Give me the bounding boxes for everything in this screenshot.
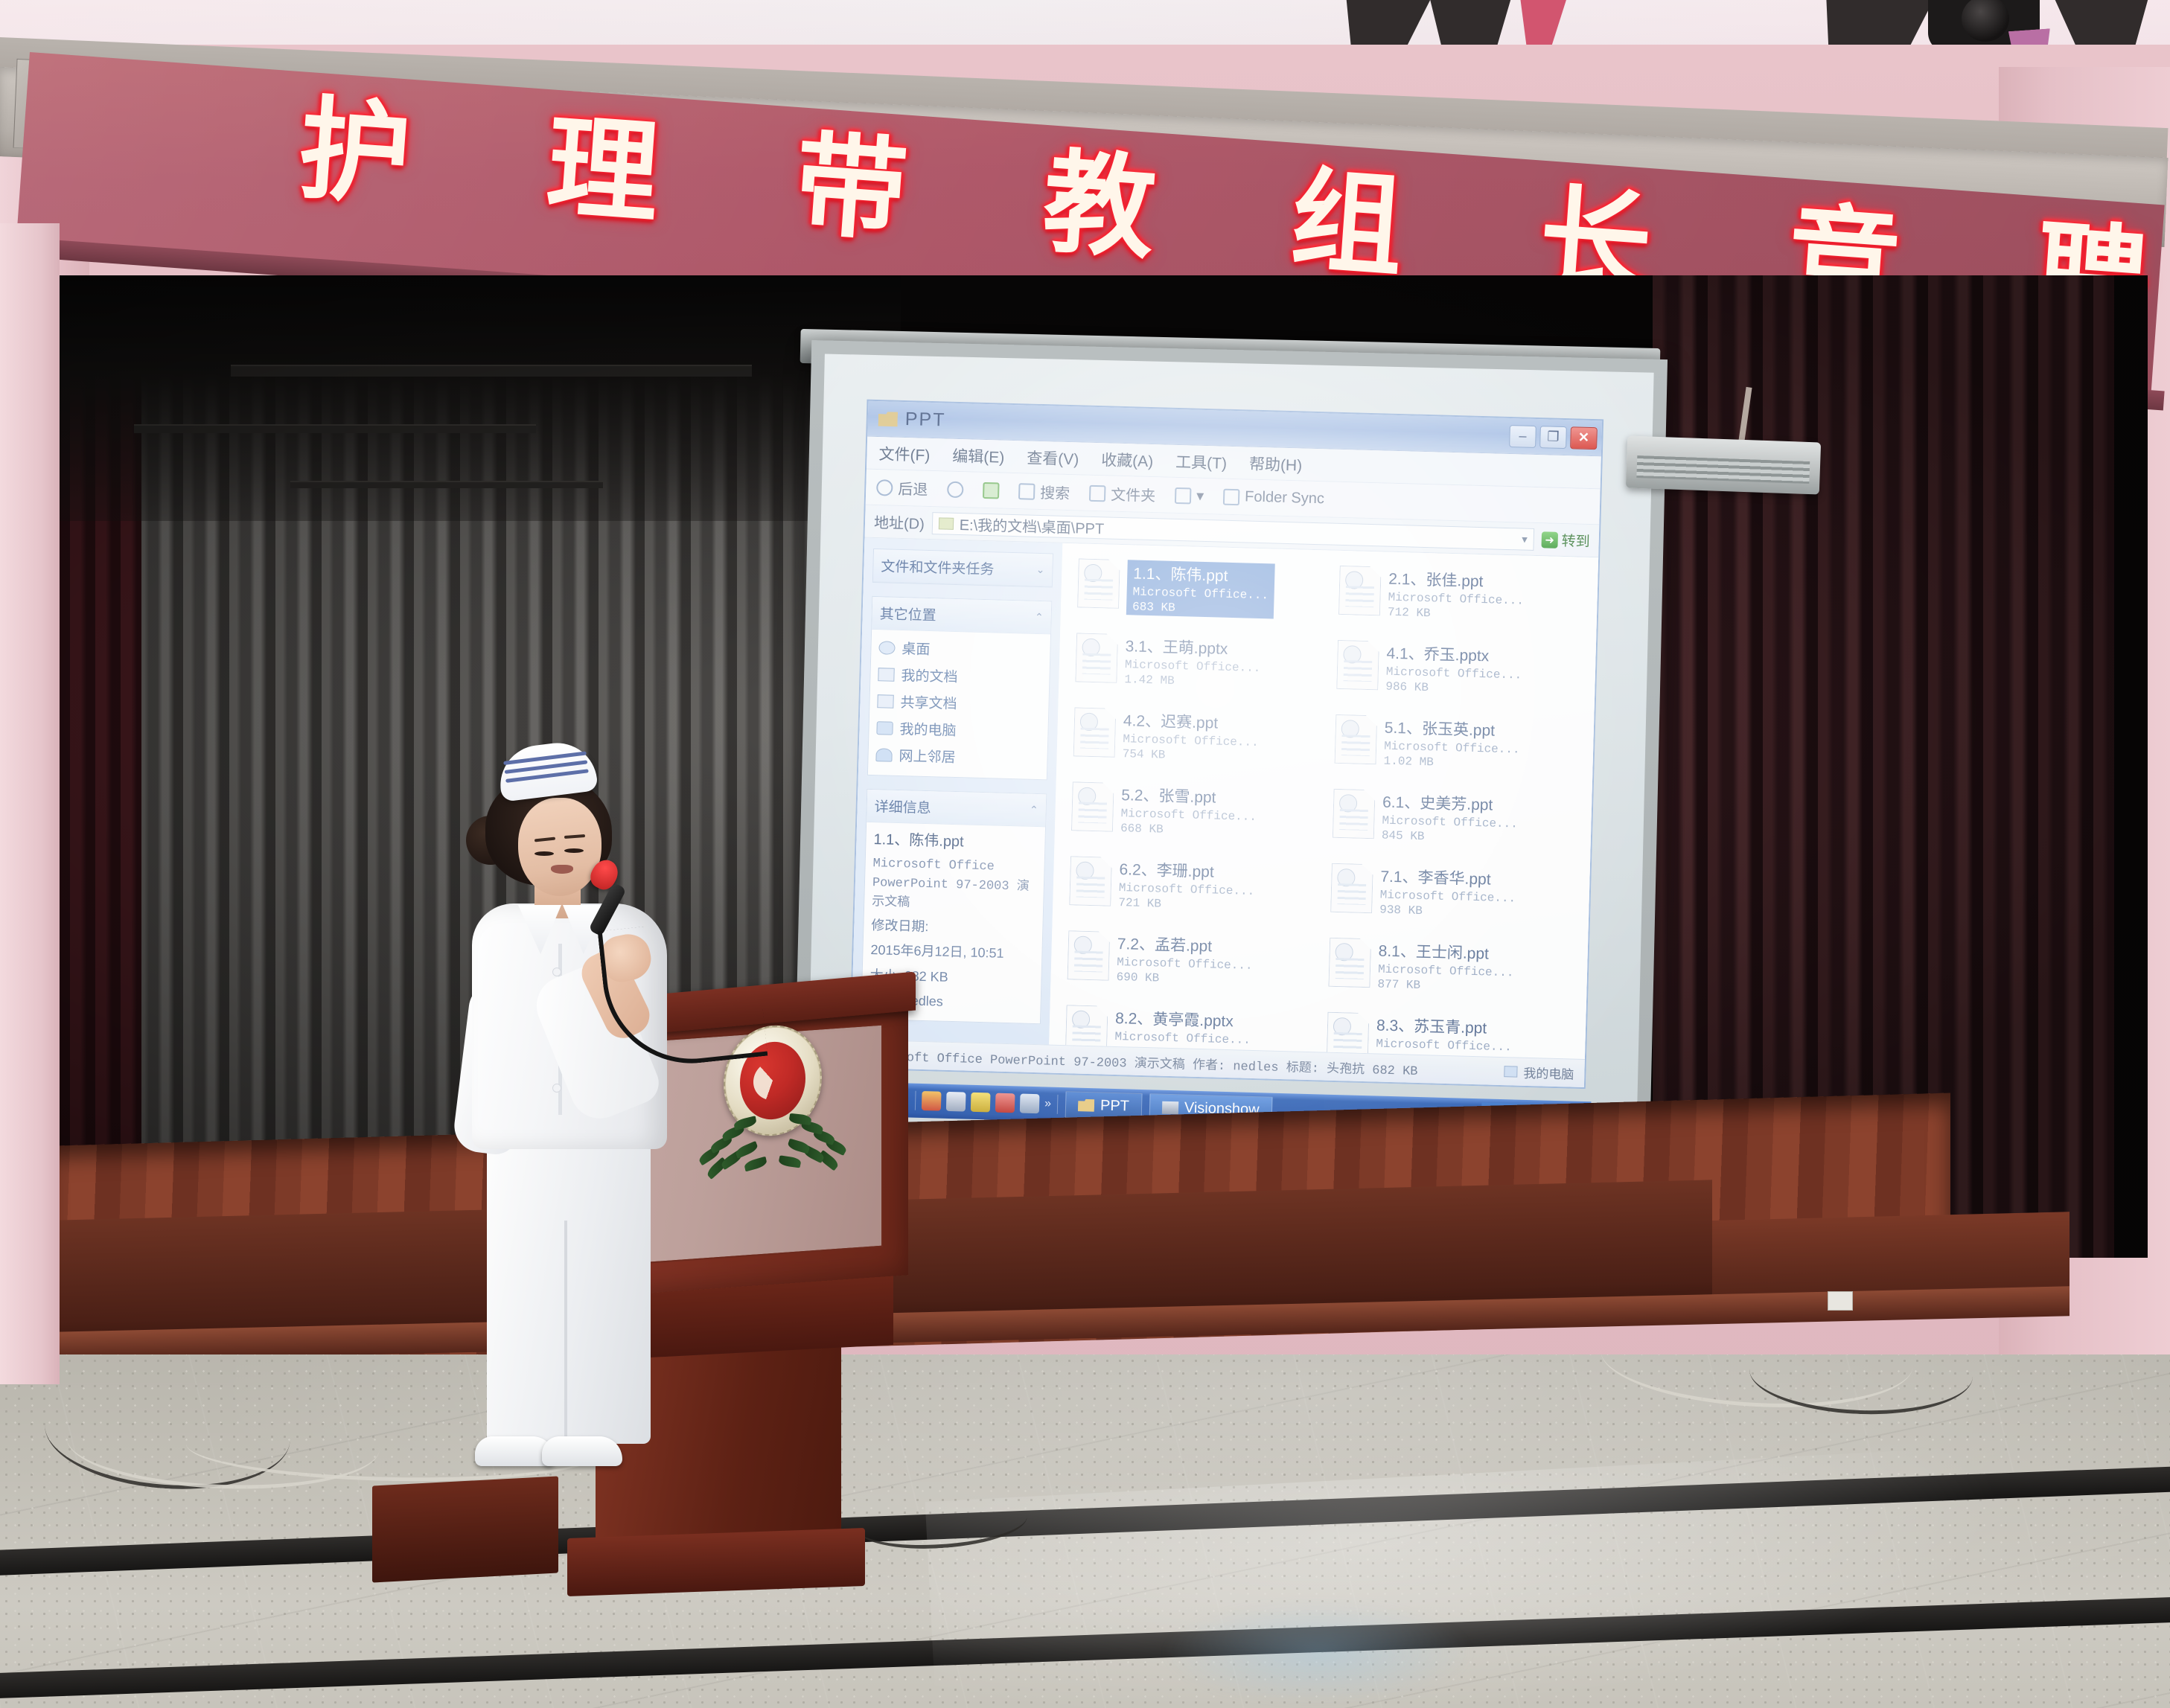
file-type: Microsoft Office... <box>1380 889 1516 906</box>
back-label: 后退 <box>898 477 928 499</box>
file-name: 2.1、张佳.ppt <box>1388 567 1525 593</box>
file-size: 877 KB <box>1377 977 1513 994</box>
folders-icon <box>1089 484 1106 502</box>
file-tile[interactable]: 2.1、张佳.pptMicrosoft Office...712 KB <box>1335 563 1590 639</box>
menu-item-tools[interactable]: 工具(T) <box>1175 450 1228 473</box>
file-meta: 1.1、陈伟.pptMicrosoft Office...683 KB <box>1126 560 1275 618</box>
powerpoint-file-icon <box>1068 930 1111 980</box>
file-type: Microsoft Office... <box>1119 881 1255 898</box>
folder-sync-button[interactable]: Folder Sync <box>1223 488 1324 508</box>
media-icon[interactable] <box>946 1092 966 1112</box>
go-label: 转到 <box>1561 530 1590 551</box>
window-body: 文件和文件夹任务 ⌄ 其它位置 ⌃ <box>851 538 1598 1059</box>
search-button[interactable]: 搜索 <box>1018 480 1070 503</box>
powerpoint-file-icon <box>1336 640 1379 690</box>
file-type: Microsoft Office... <box>1384 740 1520 757</box>
menu-item-edit[interactable]: 编辑(E) <box>952 444 1005 467</box>
file-thumb-lines <box>1074 950 1103 972</box>
powerpoint-file-icon <box>1071 781 1114 831</box>
folder-icon <box>939 517 954 530</box>
file-thumb-lines <box>1333 1032 1362 1054</box>
file-type: Microsoft Office... <box>1378 962 1514 979</box>
folder-icon <box>878 412 899 427</box>
file-size: 845 KB <box>1382 829 1518 846</box>
blouse-button <box>552 967 561 976</box>
shared-folder-icon <box>877 694 893 709</box>
go-button[interactable]: ➜ 转到 <box>1541 529 1590 551</box>
search-label: 搜索 <box>1040 481 1070 503</box>
place-label: 网上邻居 <box>899 745 956 767</box>
file-thumb-lines <box>1344 660 1373 682</box>
address-label: 地址(D) <box>874 511 925 534</box>
file-tile[interactable]: 4.1、乔玉.pptxMicrosoft Office...986 KB <box>1333 637 1589 714</box>
views-button[interactable]: ▾ <box>1175 486 1204 505</box>
details-panel-header[interactable]: 详细信息 ⌃ <box>867 790 1046 827</box>
chevron-down-icon[interactable]: ▾ <box>1522 532 1528 546</box>
file-meta: 6.2、李珊.pptMicrosoft Office...721 KB <box>1118 857 1255 913</box>
file-type: Microsoft Office... <box>1382 814 1518 831</box>
place-label: 桌面 <box>901 638 931 659</box>
file-type: Microsoft Office... <box>1123 732 1259 749</box>
file-size: 712 KB <box>1388 606 1524 623</box>
back-button[interactable]: 后退 <box>876 476 928 499</box>
file-thumb-lines <box>1345 586 1374 607</box>
file-tile[interactable]: 6.1、史美芳.pptMicrosoft Office...845 KB <box>1329 786 1584 863</box>
explorer-sidebar: 文件和文件夹任务 ⌄ 其它位置 ⌃ <box>851 538 1062 1045</box>
file-name: 8.2、黄亭霞.pptx <box>1115 1006 1251 1032</box>
powerpoint-file-icon <box>1075 633 1118 682</box>
app-icon <box>1162 1101 1178 1114</box>
tasks-panel-title: 文件和文件夹任务 <box>881 555 995 578</box>
desktop-icon <box>878 641 895 655</box>
place-item-shared-documents[interactable]: 共享文档 <box>877 691 1041 715</box>
wall-socket <box>1828 1291 1853 1311</box>
details-panel-title: 详细信息 <box>874 796 931 817</box>
eyebrow-left <box>534 837 555 842</box>
file-type: Microsoft Office... <box>1117 956 1253 973</box>
projection-surface: PPT – ❐ ✕ 文件(F) 编辑(E) 查看(V) 收藏(A) 工具(T) … <box>807 354 1653 1145</box>
file-thumb-lines <box>1337 883 1366 905</box>
details-modified-value: 2015年6月12日, 10:51 <box>870 941 1035 963</box>
restore-button[interactable]: ❐ <box>1539 426 1567 449</box>
file-name: 8.1、王士闲.ppt <box>1378 939 1514 965</box>
file-type: Microsoft Office... <box>1386 665 1522 682</box>
mouth <box>551 865 573 874</box>
browser-icon[interactable] <box>922 1091 942 1111</box>
auditorium-scene: 护 理 带 教 组 长 竞 聘 会 PPT – ❐ ✕ <box>0 0 2170 1708</box>
file-type: Microsoft Office... <box>1132 585 1269 602</box>
file-tile[interactable]: 8.1、王士闲.pptMicrosoft Office...877 KB <box>1325 935 1580 1011</box>
file-type: Microsoft Office... <box>1388 591 1524 608</box>
file-meta: 4.2、迟赛.pptMicrosoft Office...754 KB <box>1123 709 1260 764</box>
file-name: 5.2、张雪.ppt <box>1121 783 1257 809</box>
file-name: 6.1、史美芳.ppt <box>1382 790 1519 816</box>
place-label: 共享文档 <box>900 691 957 713</box>
file-name: 4.2、迟赛.ppt <box>1123 709 1260 735</box>
forward-button[interactable] <box>947 481 964 498</box>
powerpoint-file-icon <box>1328 938 1371 988</box>
shoe-right <box>542 1436 622 1466</box>
plus-icon[interactable] <box>971 1093 991 1113</box>
chevron-more-icon[interactable]: » <box>1044 1097 1051 1110</box>
close-button[interactable]: ✕ <box>1570 426 1598 450</box>
pdf-icon[interactable] <box>995 1093 1015 1113</box>
file-meta: 6.1、史美芳.pptMicrosoft Office...845 KB <box>1382 790 1519 846</box>
ac-vents <box>1636 455 1810 484</box>
folder-sync-label: Folder Sync <box>1245 488 1324 508</box>
menu-item-favorites[interactable]: 收藏(A) <box>1101 448 1154 472</box>
file-thumb-lines <box>1335 958 1365 979</box>
podium-plinth <box>567 1528 865 1596</box>
file-name: 6.2、李珊.ppt <box>1119 857 1255 883</box>
powerpoint-file-icon <box>1338 566 1382 615</box>
file-size: 690 KB <box>1116 970 1252 988</box>
file-meta: 7.1、李香华.pptMicrosoft Office...938 KB <box>1379 865 1516 921</box>
blouse-button <box>552 1084 561 1093</box>
file-tile[interactable]: 8.3、苏玉青.pptMicrosoft Office...803 KB <box>1323 1009 1578 1059</box>
network-icon <box>875 748 892 762</box>
explorer-window[interactable]: PPT – ❐ ✕ 文件(F) 编辑(E) 查看(V) 收藏(A) 工具(T) … <box>849 400 1603 1089</box>
pull-down-projection-screen: PPT – ❐ ✕ 文件(F) 编辑(E) 查看(V) 收藏(A) 工具(T) … <box>794 340 1668 1160</box>
file-size: 938 KB <box>1379 903 1516 921</box>
file-meta: 7.2、孟若.pptMicrosoft Office...690 KB <box>1116 932 1253 988</box>
back-arrow-icon <box>876 479 893 496</box>
laurel-wreath-left <box>698 1104 767 1180</box>
file-name: 1.1、陈伟.ppt <box>1133 561 1269 587</box>
file-name: 7.2、孟若.ppt <box>1117 932 1253 958</box>
file-tile[interactable]: 7.2、孟若.pptMicrosoft Office...690 KB <box>1064 927 1319 1004</box>
file-size: 1.42 MB <box>1124 673 1260 690</box>
folders-label: 文件夹 <box>1111 483 1156 506</box>
file-thumb-lines <box>1076 876 1105 898</box>
wall-air-conditioner <box>1626 435 1821 494</box>
menu-item-help[interactable]: 帮助(H) <box>1249 452 1303 476</box>
file-size: 721 KB <box>1118 896 1254 913</box>
left-wall-pillar <box>0 223 60 1384</box>
chevron-down-icon: ▾ <box>1196 487 1204 505</box>
file-tile[interactable]: 3.1、王萌.pptxMicrosoft Office...1.42 MB <box>1072 630 1327 706</box>
up-folder-icon <box>983 482 1000 499</box>
file-meta: 4.1、乔玉.pptxMicrosoft Office...986 KB <box>1385 642 1522 697</box>
places-list: 桌面 我的文档 共享文档 <box>868 630 1050 779</box>
details-file-type: Microsoft Office PowerPoint 97-2003 演示文稿 <box>872 857 1037 914</box>
face <box>518 798 601 896</box>
chevron-up-icon[interactable]: ⌃ <box>1035 611 1044 624</box>
menu-item-file[interactable]: 文件(F) <box>878 442 931 466</box>
file-type: Microsoft Office... <box>1114 1030 1251 1047</box>
place-item-my-computer[interactable]: 我的电脑 <box>876 717 1041 742</box>
window-title: PPT <box>904 409 945 431</box>
file-type: Microsoft Office... <box>1125 658 1261 675</box>
file-thumb-lines <box>1078 802 1107 824</box>
place-item-network[interactable]: 网上邻居 <box>875 744 1040 769</box>
powerpoint-file-icon <box>1333 789 1376 839</box>
file-type: Microsoft Office... <box>1376 1037 1512 1054</box>
uniform-trousers <box>487 1131 651 1444</box>
file-name: 8.3、苏玉青.ppt <box>1376 1013 1513 1039</box>
file-tile[interactable]: 5.2、张雪.pptMicrosoft Office...668 KB <box>1068 778 1323 855</box>
file-list[interactable]: 1.1、陈伟.pptMicrosoft Office...683 KB2.1、张… <box>1049 543 1598 1059</box>
file-meta: 5.2、张雪.pptMicrosoft Office...668 KB <box>1120 783 1257 839</box>
place-item-desktop[interactable]: 桌面 <box>878 637 1043 662</box>
taskbar-button-label: PPT <box>1100 1097 1130 1115</box>
status-location: 我的电脑 <box>1504 1062 1574 1084</box>
lighting-truss <box>231 365 752 377</box>
minimize-button[interactable]: – <box>1509 425 1536 448</box>
search-icon <box>1018 483 1035 500</box>
file-meta: 3.1、王萌.pptxMicrosoft Office...1.42 MB <box>1124 634 1261 690</box>
computer-icon <box>1504 1066 1517 1077</box>
chevron-down-icon[interactable]: ⌄ <box>1035 563 1044 576</box>
documents-folder-icon <box>878 668 894 682</box>
file-meta: 8.3、苏玉青.pptMicrosoft Office...803 KB <box>1376 1013 1513 1059</box>
file-thumb-lines <box>1341 735 1370 756</box>
file-thumb-lines <box>1080 728 1109 749</box>
file-meta: 5.1、张玉英.pptMicrosoft Office...1.02 MB <box>1383 716 1520 772</box>
folder-icon <box>1078 1098 1094 1112</box>
up-button[interactable] <box>983 482 1000 499</box>
laurel-wreath-right <box>779 1098 847 1174</box>
chevron-up-icon[interactable]: ⌃ <box>1030 804 1038 816</box>
computer-icon <box>876 721 893 735</box>
lighting-truss <box>134 424 536 433</box>
file-tile[interactable]: 7.1、李香华.pptMicrosoft Office...938 KB <box>1327 860 1582 937</box>
powerpoint-file-icon <box>1069 856 1112 906</box>
place-label: 我的电脑 <box>899 718 957 740</box>
file-name: 4.1、乔玉.pptx <box>1386 642 1522 668</box>
powerpoint-file-icon <box>1077 558 1120 608</box>
file-thumb-lines <box>1339 809 1368 831</box>
powerpoint-file-icon <box>1327 1012 1370 1059</box>
nurse-presenter <box>447 744 692 1526</box>
calendar-icon[interactable] <box>1020 1094 1040 1114</box>
file-size: 1.02 MB <box>1383 755 1519 772</box>
file-name: 3.1、王萌.pptx <box>1125 634 1261 660</box>
file-size: 683 KB <box>1132 600 1269 617</box>
address-value: E:\我的文档\桌面\PPT <box>959 513 1104 538</box>
file-thumb-lines <box>1084 579 1113 601</box>
file-size: 668 KB <box>1120 822 1257 839</box>
folder-sync-icon <box>1223 488 1240 505</box>
status-location-label: 我的电脑 <box>1523 1062 1574 1083</box>
places-panel[interactable]: 其它位置 ⌃ 桌面 我的文档 <box>867 596 1052 780</box>
powerpoint-file-icon <box>1335 714 1378 764</box>
file-type: Microsoft Office... <box>1120 807 1257 824</box>
lighting-truss <box>290 481 603 488</box>
file-tile[interactable]: 1.1、陈伟.pptMicrosoft Office...683 KB <box>1073 555 1329 632</box>
tasks-panel-header[interactable]: 文件和文件夹任务 ⌄ <box>873 549 1053 586</box>
place-item-my-documents[interactable]: 我的文档 <box>878 664 1042 688</box>
file-name: 7.1、李香华.ppt <box>1380 865 1516 891</box>
go-arrow-icon: ➜ <box>1541 531 1558 548</box>
trouser-seam <box>564 1221 567 1444</box>
forward-arrow-icon <box>947 481 964 498</box>
file-tile[interactable]: 4.2、迟赛.pptMicrosoft Office...754 KB <box>1070 704 1325 781</box>
eye-right <box>564 848 584 853</box>
eye-left <box>534 851 554 856</box>
menu-item-view[interactable]: 查看(V) <box>1027 446 1079 470</box>
place-label: 我的文档 <box>901 665 958 686</box>
places-panel-title: 其它位置 <box>879 603 936 624</box>
places-panel-header[interactable]: 其它位置 ⌃ <box>872 597 1051 634</box>
quick-launch-bar[interactable]: » <box>915 1091 1059 1114</box>
powerpoint-file-icon <box>1330 863 1373 913</box>
file-size: 754 KB <box>1123 747 1259 764</box>
details-file-name: 1.1、陈伟.ppt <box>873 830 1038 854</box>
file-meta: 8.1、王士闲.pptMicrosoft Office...877 KB <box>1377 939 1514 995</box>
file-thumb-lines <box>1082 653 1111 675</box>
tasks-panel[interactable]: 文件和文件夹任务 ⌄ <box>872 548 1053 588</box>
folders-button[interactable]: 文件夹 <box>1089 482 1156 505</box>
views-icon <box>1175 487 1192 504</box>
file-thumb-lines <box>1072 1025 1101 1046</box>
file-meta: 2.1、张佳.pptMicrosoft Office...712 KB <box>1388 567 1525 623</box>
file-size: 986 KB <box>1385 680 1522 697</box>
file-tile[interactable]: 5.1、张玉英.pptMicrosoft Office...1.02 MB <box>1331 711 1586 788</box>
powerpoint-file-icon <box>1073 707 1117 757</box>
file-tile[interactable]: 6.2、李珊.pptMicrosoft Office...721 KB <box>1066 853 1321 930</box>
file-name: 5.1、张玉英.ppt <box>1384 716 1520 742</box>
eyebrow-right <box>564 834 585 839</box>
details-modified-label: 修改日期: <box>871 916 1035 938</box>
floor-reflection-blue <box>1161 1600 1474 1704</box>
